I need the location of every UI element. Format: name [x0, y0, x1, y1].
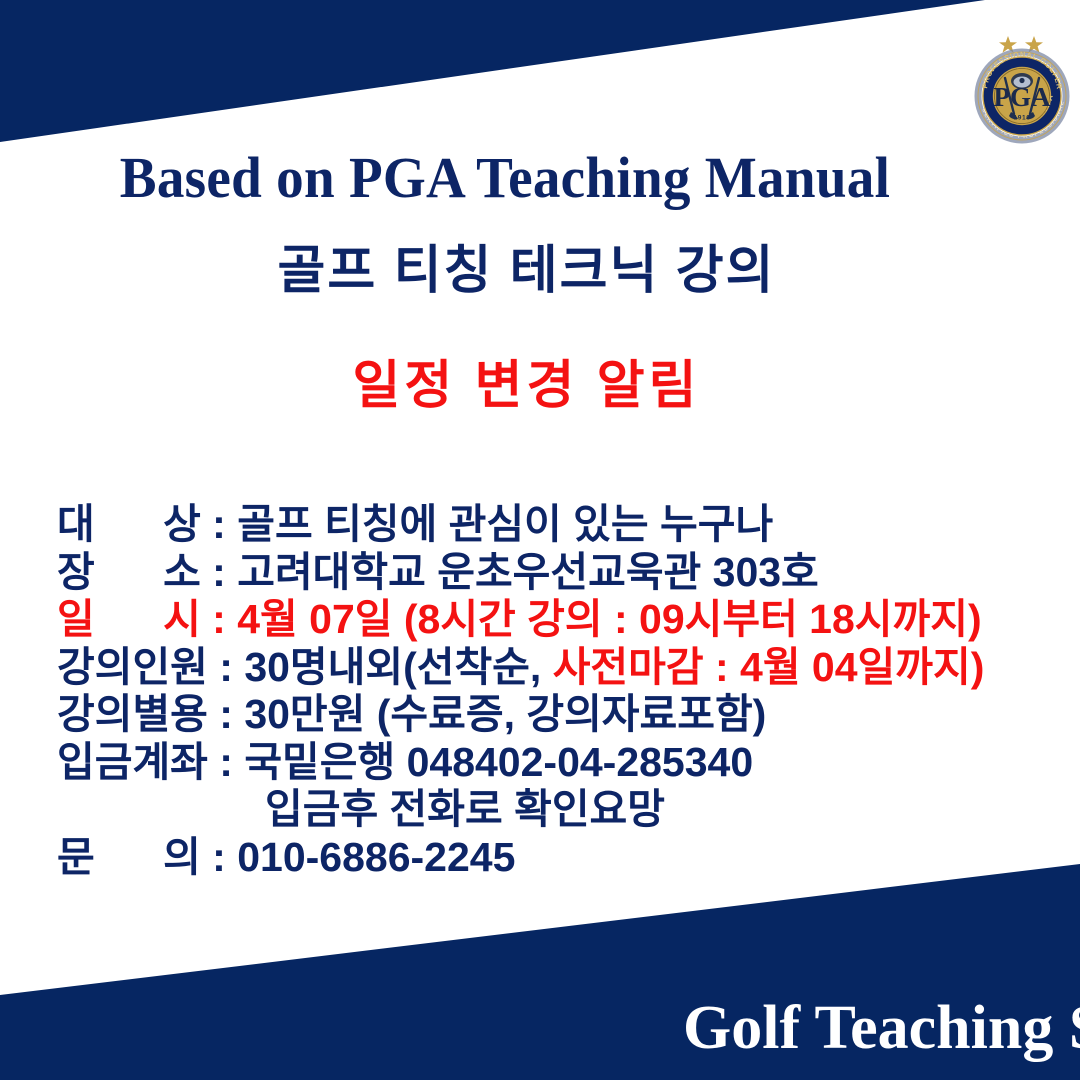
poster-canvas: CERTIFIED PROFESSIONAL PROFESSIONAL GOLF… — [0, 0, 1080, 1080]
pga-year: 1916 — [1013, 115, 1030, 122]
headline-alert: 일정 변경 알림 — [0, 358, 1053, 415]
detail-value-tuition: 30만원 (수료증, 강의자료포함) — [244, 691, 766, 737]
pga-monogram: PGA — [994, 82, 1051, 112]
detail-value-capacity-2: 사전마감 : 4월 04일까지) — [553, 644, 985, 690]
detail-value-date-time: 4월 07일 (8시간 강의 : 09시부터 18시까지) — [237, 596, 981, 642]
detail-value-bank-account: 국밑은행 048402-04-285340 — [244, 739, 753, 785]
pga-seal-logo: CERTIFIED PROFESSIONAL PROFESSIONAL GOLF… — [970, 30, 1074, 156]
detail-label-bank-account: 입금계좌 : — [57, 739, 244, 785]
detail-value-capacity-1: 30명내외(선착순, — [244, 644, 552, 690]
detail-label-tuition: 강의별용 : — [57, 691, 244, 737]
detail-label-target-audience: 대 상 : — [57, 501, 237, 547]
detail-label-venue: 장 소 : — [57, 549, 237, 595]
footer-wordmark: Golf Teaching Sch — [683, 997, 1080, 1059]
detail-row-contact: 문 의 : 010-6886-2245 — [57, 834, 1077, 882]
detail-row-bank-account: 입금계좌 : 국밑은행 048402-04-285340 — [57, 739, 1077, 787]
detail-list: 대 상 : 골프 티칭에 관심이 있는 누구나장 소 : 고려대학교 운초우선교… — [57, 501, 1077, 881]
detail-row-capacity: 강의인원 : 30명내외(선착순, 사전마감 : 4월 04일까지) — [57, 644, 1077, 692]
detail-row-date-time: 일 시 : 4월 07일 (8시간 강의 : 09시부터 18시까지) — [57, 596, 1077, 644]
detail-value-contact: 010-6886-2245 — [237, 834, 515, 880]
detail-label-capacity: 강의인원 : — [57, 644, 244, 690]
top-diagonal-band — [0, 0, 1080, 160]
detail-row-venue: 장 소 : 고려대학교 운초우선교욱관 303호 — [57, 549, 1077, 597]
detail-value-bank-account-note: 입금후 전화로 확인요망 — [265, 786, 665, 832]
detail-label-contact: 문 의 : — [57, 834, 237, 880]
detail-row-bank-account-note: 입금후 전화로 확인요망 — [57, 786, 1077, 834]
headline-english: Based on PGA Teaching Manual — [25, 148, 985, 209]
detail-label-date-time: 일 시 : — [57, 596, 237, 642]
headline-korean: 골프 티칭 테크닉 강의 — [0, 243, 1053, 300]
detail-row-tuition: 강의별용 : 30만원 (수료증, 강의자료포함) — [57, 691, 1077, 739]
detail-value-venue: 고려대학교 운초우선교욱관 303호 — [237, 549, 819, 595]
detail-row-target-audience: 대 상 : 골프 티칭에 관심이 있는 누구나 — [57, 501, 1077, 549]
detail-value-target-audience: 골프 티칭에 관심이 있는 누구나 — [237, 501, 773, 547]
